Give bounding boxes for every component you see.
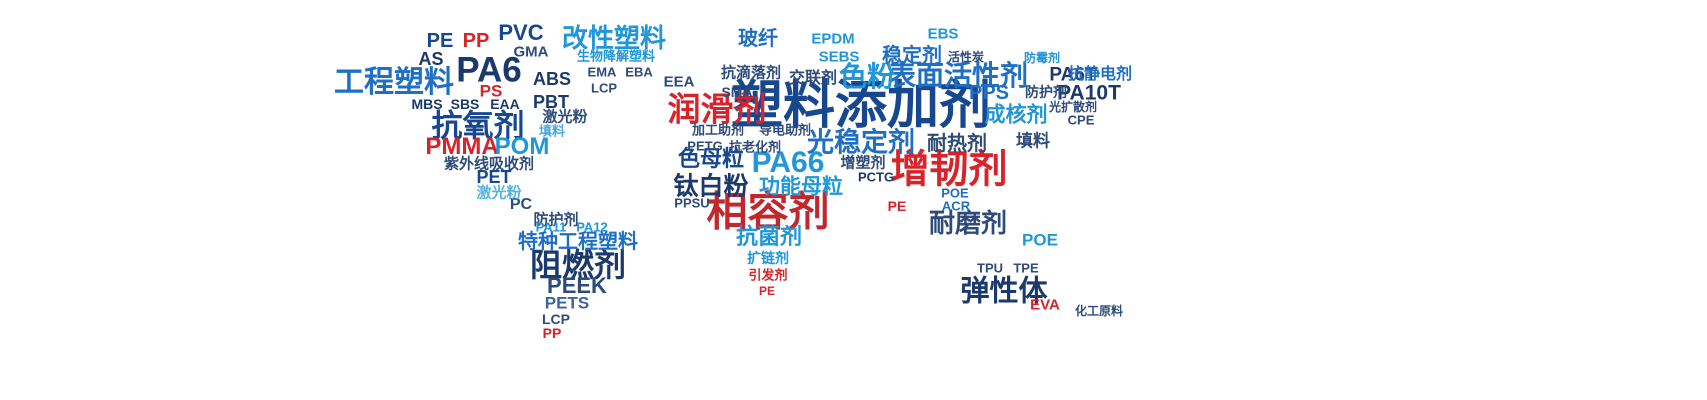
- word-cloud-term[interactable]: 填料: [1016, 134, 1050, 151]
- word-cloud-term[interactable]: EVA: [1030, 298, 1060, 313]
- word-cloud-term[interactable]: 改性塑料: [562, 26, 666, 52]
- word-cloud-term[interactable]: EBS: [928, 27, 959, 42]
- word-cloud-term[interactable]: 抗菌剂: [736, 227, 802, 249]
- word-cloud-term[interactable]: PETS: [545, 295, 589, 312]
- word-cloud-term[interactable]: SMA: [721, 85, 752, 99]
- word-cloud-term[interactable]: AS: [418, 50, 443, 68]
- word-cloud-term[interactable]: 抗老化剂: [729, 142, 781, 155]
- word-cloud-term[interactable]: 扩链剂: [747, 252, 789, 266]
- word-cloud-term[interactable]: 耐磨剂: [929, 211, 1007, 237]
- word-cloud-term[interactable]: EAA: [490, 97, 520, 111]
- word-cloud-term[interactable]: PCTG: [858, 171, 894, 184]
- word-cloud-term[interactable]: 玻纤: [738, 28, 778, 48]
- word-cloud-term[interactable]: 生物降解塑料: [577, 51, 655, 64]
- word-cloud-term[interactable]: 化工原料: [1075, 305, 1123, 317]
- word-cloud-term[interactable]: 功能母粒: [759, 177, 843, 198]
- word-cloud-term[interactable]: 光扩散剂: [1049, 101, 1097, 113]
- word-cloud-term[interactable]: 抗静电剂: [1068, 66, 1132, 82]
- word-cloud-term[interactable]: TPU: [977, 262, 1003, 275]
- word-cloud-term[interactable]: 色粉: [839, 63, 895, 91]
- word-cloud-term[interactable]: ABS: [533, 70, 571, 88]
- word-cloud-term[interactable]: PPSU: [674, 197, 709, 210]
- word-cloud-term[interactable]: LCP: [591, 82, 617, 95]
- word-cloud-term[interactable]: GMA: [514, 45, 549, 60]
- word-cloud-term[interactable]: 活性炭: [948, 51, 984, 63]
- word-cloud-term[interactable]: SBS: [451, 97, 480, 111]
- word-cloud-term[interactable]: PVC: [498, 22, 543, 44]
- word-cloud-term[interactable]: 引发剂: [748, 270, 787, 283]
- word-cloud-term[interactable]: 加工助剂: [692, 125, 744, 138]
- word-cloud-term[interactable]: 防护剂: [1025, 86, 1067, 100]
- word-cloud-term[interactable]: ACR: [942, 200, 970, 213]
- word-cloud-term[interactable]: EBA: [625, 66, 652, 79]
- word-cloud-term[interactable]: 工程塑料: [334, 68, 454, 98]
- word-cloud-term[interactable]: 激光粉: [476, 186, 521, 201]
- word-cloud-term[interactable]: SEBS: [819, 50, 860, 65]
- word-cloud-term[interactable]: 增塑剂: [840, 156, 885, 171]
- word-cloud-term[interactable]: 稳定剂: [882, 45, 942, 65]
- word-cloud-term[interactable]: 耐热剂: [927, 133, 987, 153]
- word-cloud-term[interactable]: PE: [759, 285, 775, 297]
- word-cloud-term[interactable]: PE: [427, 31, 454, 51]
- word-cloud-term[interactable]: POE: [1022, 232, 1058, 249]
- word-cloud-term[interactable]: EPDM: [811, 32, 854, 47]
- word-cloud-term[interactable]: 导电助剂: [759, 125, 811, 138]
- word-cloud-term[interactable]: 防霉剂: [1024, 52, 1060, 64]
- word-cloud-term[interactable]: MBS: [411, 97, 442, 111]
- word-cloud-term[interactable]: EEA: [664, 75, 695, 90]
- word-cloud-term[interactable]: PP: [463, 31, 490, 51]
- word-cloud-term[interactable]: 激光粉: [542, 110, 587, 125]
- word-cloud-term[interactable]: 抗滴落剂: [721, 66, 781, 81]
- word-cloud-term[interactable]: PA11: [536, 221, 567, 234]
- word-cloud-term[interactable]: PETG: [687, 140, 722, 153]
- word-cloud-term[interactable]: LCP: [542, 312, 570, 326]
- word-cloud-term[interactable]: PA12: [576, 221, 608, 234]
- word-cloud-term[interactable]: 成核剂: [985, 105, 1048, 126]
- word-cloud-term[interactable]: EMA: [588, 66, 617, 79]
- word-cloud-term[interactable]: TPE: [1013, 262, 1038, 275]
- word-cloud-term[interactable]: PP: [543, 326, 562, 340]
- word-cloud-term[interactable]: PE: [888, 199, 907, 213]
- word-cloud-term[interactable]: 交联剂: [789, 70, 837, 86]
- word-cloud-canvas: 塑料添加剂相容剂增韧剂润滑剂阻燃剂抗氧剂工程塑料表面活性剂PA6光稳定剂弹性体改…: [0, 0, 1707, 400]
- word-cloud-term[interactable]: 填料: [539, 126, 565, 139]
- word-cloud-term[interactable]: CPE: [1068, 114, 1095, 127]
- word-cloud-term[interactable]: PPS: [969, 83, 1009, 103]
